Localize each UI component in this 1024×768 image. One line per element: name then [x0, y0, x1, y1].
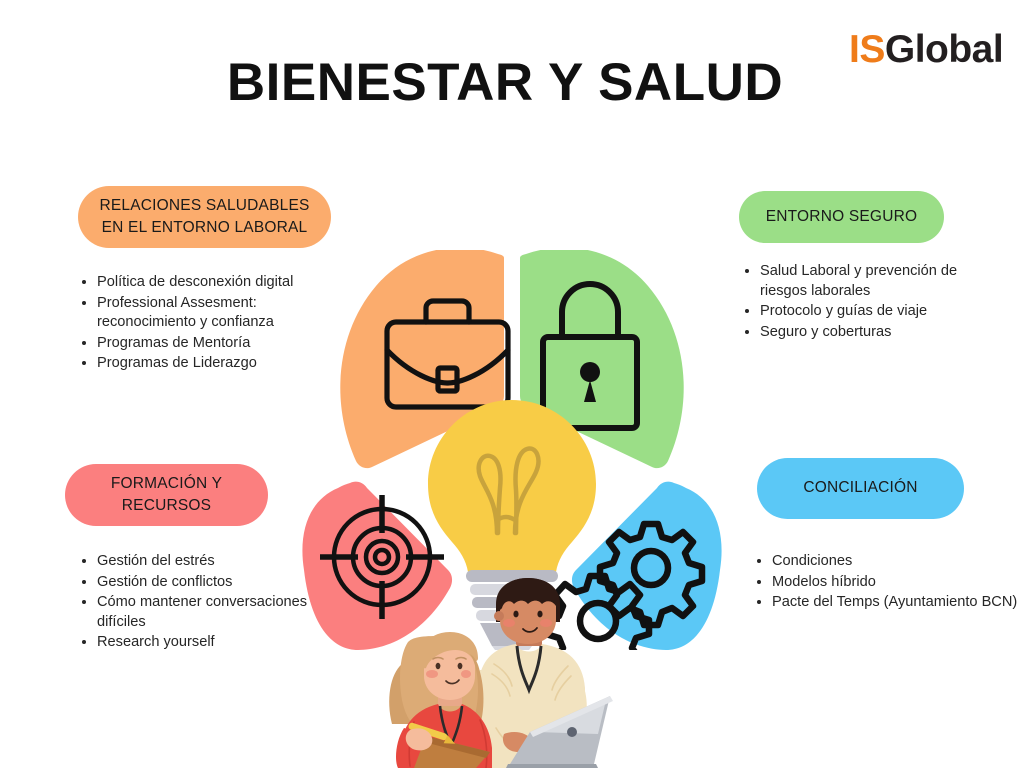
list-conciliacion: Condiciones Modelos híbrido Pacte del Te…	[748, 552, 1024, 614]
page-title: BIENESTAR Y SALUD	[0, 52, 1010, 113]
blush-left	[426, 670, 438, 678]
two-colleagues-with-laptop-illustration	[380, 578, 630, 768]
badge-label: RELACIONES SALUDABLES EN EL ENTORNO LABO…	[92, 195, 317, 240]
list-item: Pacte del Temps (Ayuntamiento BCN)	[772, 593, 1024, 613]
badge-entorno-seguro: ENTORNO SEGURO	[739, 191, 944, 243]
blush-left	[503, 619, 515, 627]
list-item: Protocolo y guías de viaje	[760, 302, 1005, 322]
list-item: Condiciones	[772, 552, 1024, 572]
eye-right	[458, 663, 463, 669]
badge-relaciones-saludables: RELACIONES SALUDABLES EN EL ENTORNO LABO…	[78, 186, 331, 248]
ear	[494, 611, 504, 621]
badge-label: FORMACIÓN Y RECURSOS	[79, 473, 254, 518]
laptop-base	[506, 764, 598, 768]
blush-right	[540, 619, 552, 627]
list-entorno-seguro: Salud Laboral y prevención de riesgos la…	[736, 262, 1005, 343]
list-item: Modelos híbrido	[772, 573, 1024, 593]
eye-left	[436, 663, 441, 669]
badge-label: CONCILIACIÓN	[803, 477, 917, 499]
bulb-glass	[428, 400, 596, 572]
list-item: Seguro y coberturas	[760, 323, 1005, 343]
eye-right	[537, 611, 542, 618]
list-item: Salud Laboral y prevención de riesgos la…	[760, 262, 1005, 301]
badge-conciliacion: CONCILIACIÓN	[757, 458, 964, 519]
eye-left	[513, 611, 518, 618]
badge-formacion-y-recursos: FORMACIÓN Y RECURSOS	[65, 464, 268, 526]
blush-right	[461, 670, 471, 678]
list-relaciones-saludables: Política de desconexión digital Professi…	[73, 273, 337, 375]
laptop-camera	[567, 727, 577, 737]
person-left	[389, 632, 492, 768]
badge-label: ENTORNO SEGURO	[766, 206, 918, 228]
